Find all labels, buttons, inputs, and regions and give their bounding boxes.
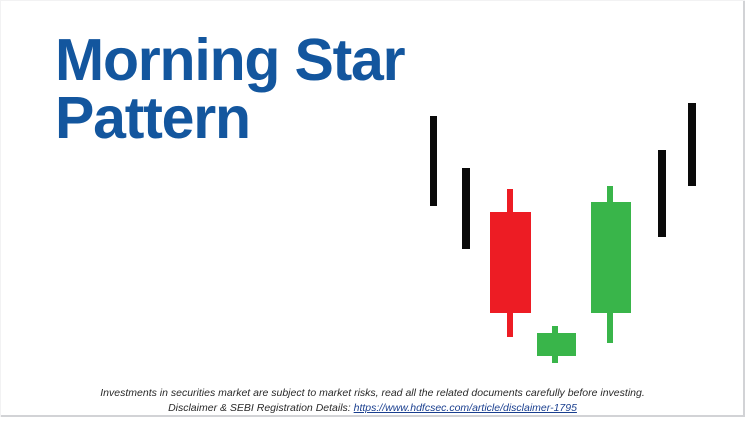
footer-disclaimer: Investments in securities market are sub… — [0, 386, 745, 415]
disclaimer-line-2: Disclaimer & SEBI Registration Details: … — [0, 401, 745, 416]
disclaimer-label: Disclaimer & SEBI Registration Details: — [168, 402, 354, 414]
card-top-edge — [0, 0, 745, 1]
disclaimer-link[interactable]: https://www.hdfcsec.com/article/disclaim… — [354, 402, 577, 414]
page-title: Morning Star Pattern — [55, 32, 475, 148]
card-left-edge — [0, 0, 1, 417]
slide-canvas: Morning Star Pattern Investments in secu… — [0, 0, 751, 423]
disclaimer-line-1: Investments in securities market are sub… — [0, 386, 745, 401]
